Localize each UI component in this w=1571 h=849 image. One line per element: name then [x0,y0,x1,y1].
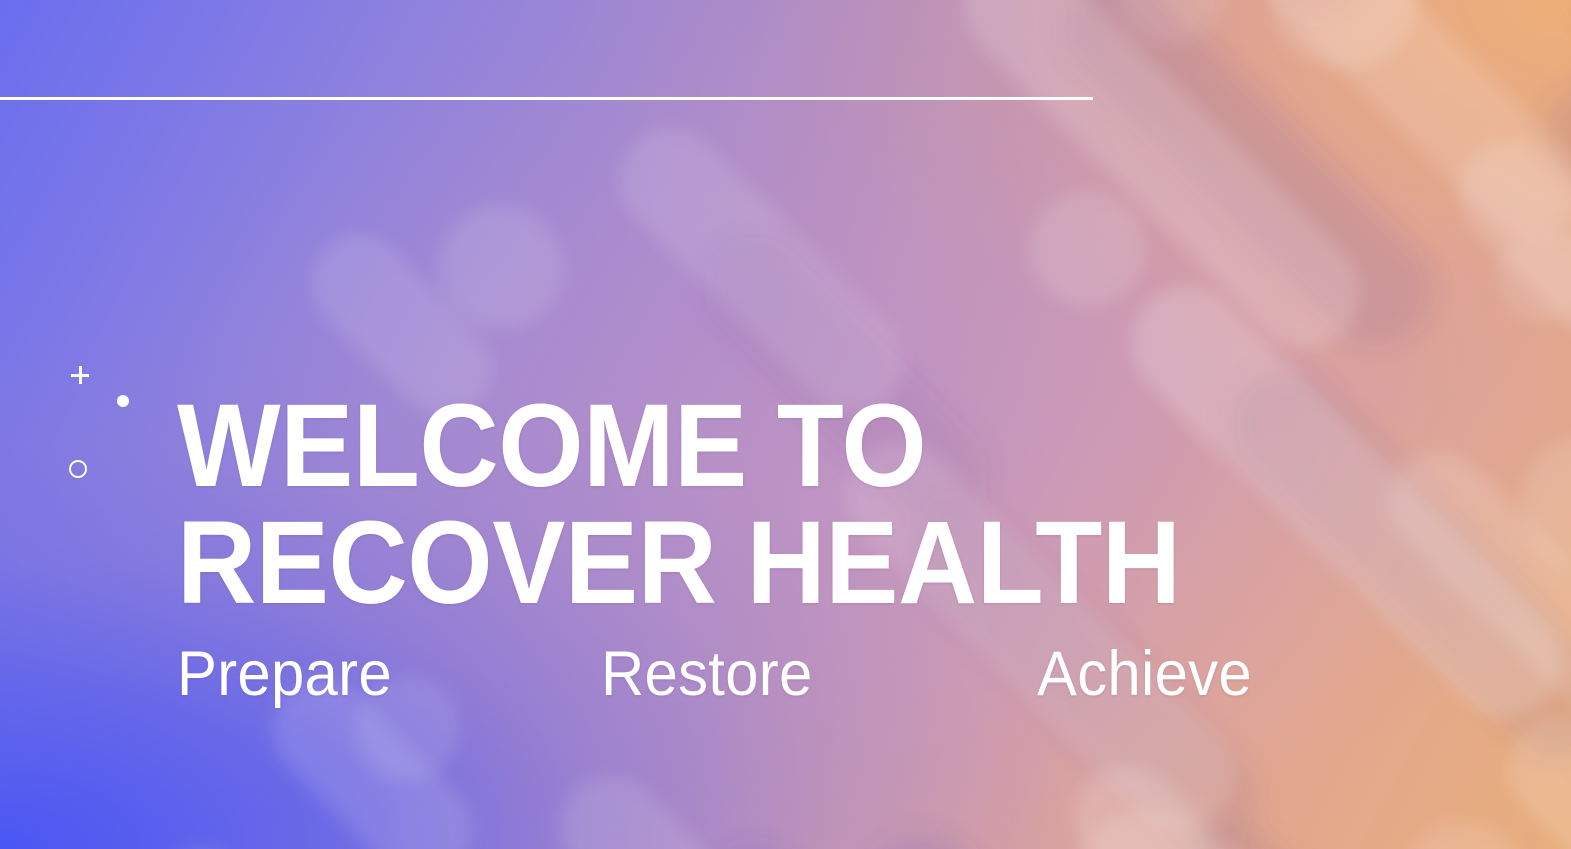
title-content: WELCOME TO RECOVER HEALTH Prepare Restor… [177,388,1437,710]
subhead-row: Prepare Restore Achieve [177,638,1437,710]
page-title: WELCOME TO RECOVER HEALTH [177,388,1349,622]
subhead-restore: Restore [601,638,813,710]
outline-circle-mark-icon [69,460,87,478]
filled-dot-mark-icon [117,395,129,407]
subhead-prepare: Prepare [177,638,392,710]
top-horizontal-rule [0,97,1093,100]
subhead-achieve: Achieve [1037,638,1252,710]
title-slide: WELCOME TO RECOVER HEALTH Prepare Restor… [0,0,1571,849]
plus-mark-icon [71,366,89,384]
